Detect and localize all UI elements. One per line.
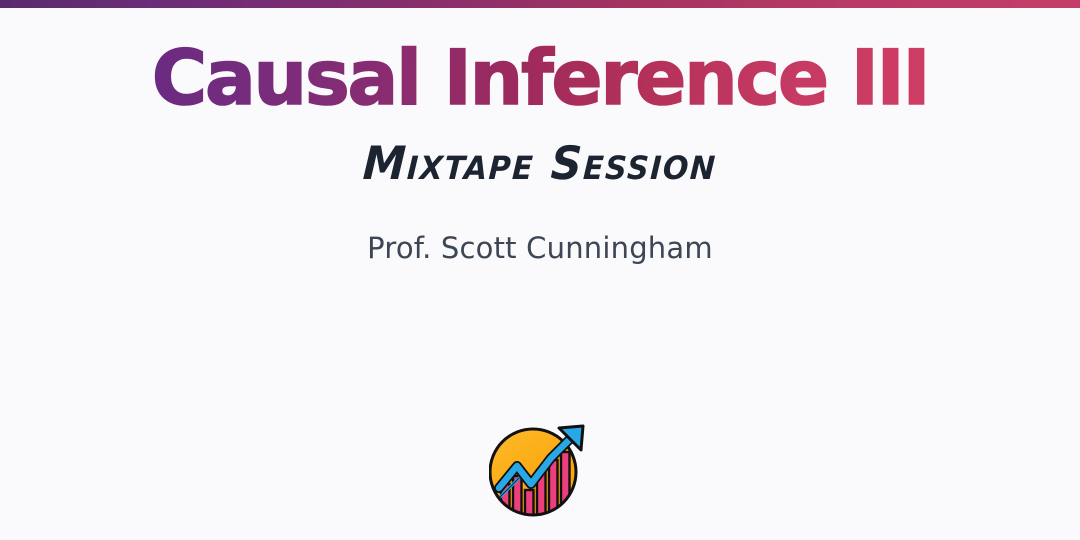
subtitle: Mixtape Session <box>362 140 718 188</box>
presenter-name: Prof. Scott Cunningham <box>367 231 713 265</box>
rising-chart-logo-icon <box>489 418 593 522</box>
presenter-container: Prof. Scott Cunningham <box>0 231 1080 265</box>
rising-chart-logo <box>489 418 593 522</box>
title-container: Causal Inference III <box>0 40 1080 116</box>
subtitle-container: Mixtape Session <box>0 142 1080 187</box>
page-title: Causal Inference III <box>152 40 928 116</box>
top-accent-bar <box>0 0 1080 8</box>
slide-canvas: Causal Inference III Mixtape Session Pro… <box>0 0 1080 540</box>
